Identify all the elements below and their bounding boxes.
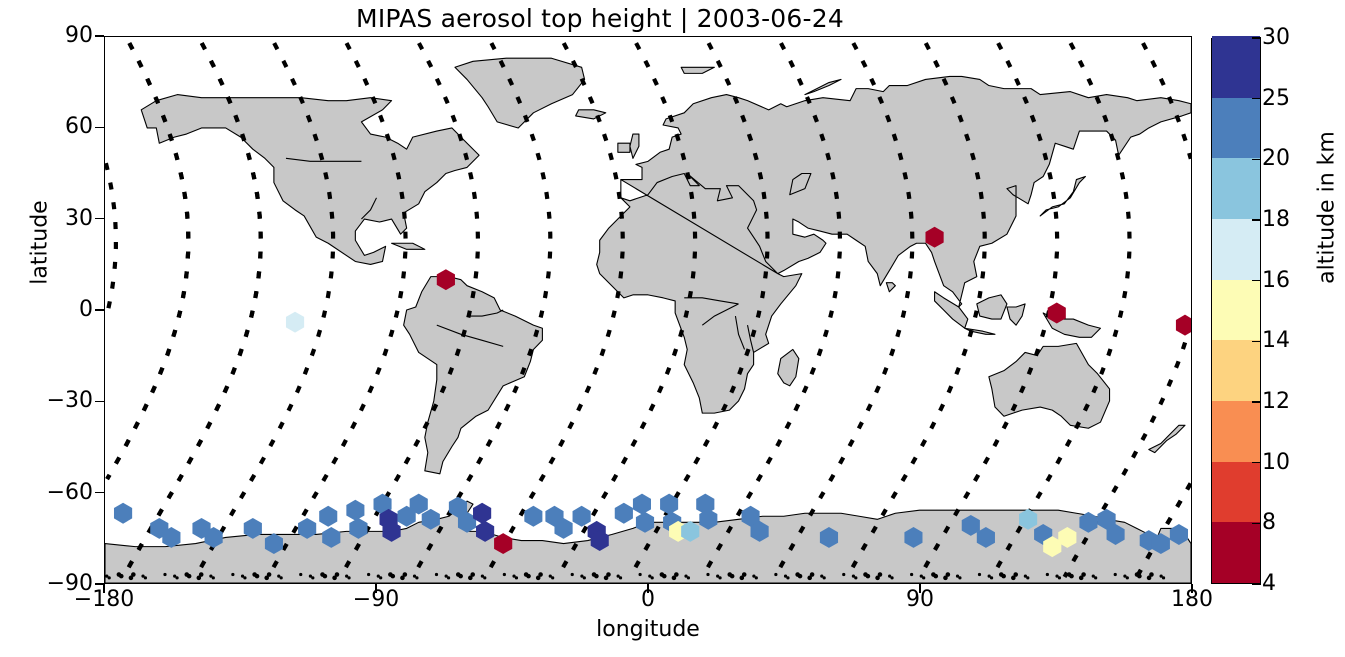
chart-title: MIPAS aerosol top height | 2003-06-24 (0, 4, 1200, 33)
colorbar-tick-label: 12 (1262, 391, 1290, 413)
landmass (455, 58, 585, 128)
orbit-track-dot (706, 573, 709, 576)
orbit-track-dot (163, 573, 166, 576)
orbit-track-dot (447, 576, 450, 579)
orbit-track-dot (662, 574, 667, 579)
colorbar-band (1212, 340, 1260, 401)
colorbar-tick-mark (1252, 98, 1261, 100)
orbit-track-dot (687, 576, 690, 579)
colorbar-tick-mark (1252, 341, 1261, 343)
orbit-track-dot (526, 574, 531, 579)
orbit-track-dot (990, 576, 993, 579)
orbit-track-dot (390, 574, 395, 579)
orbit-track-dot (483, 576, 486, 579)
y-tick-label: −60 (47, 482, 93, 504)
landmass (392, 243, 425, 249)
orbit-track-dot (774, 573, 777, 576)
orbit-track-dot (1126, 576, 1129, 579)
x-tick-mark (1191, 584, 1193, 593)
orbit-track-dot (470, 572, 475, 577)
orbit-track-dot (1094, 576, 1097, 579)
y-tick-mark (95, 309, 104, 311)
data-point (286, 312, 304, 333)
colorbar-tick-label: 4 (1262, 573, 1276, 595)
orbit-track-dot (651, 576, 654, 579)
x-tick-mark (375, 584, 377, 593)
map-axes (104, 36, 1192, 584)
colorbar-band (1212, 97, 1260, 158)
orbit-track-dot (1162, 576, 1165, 579)
landmass (1149, 425, 1185, 452)
orbit-track-dot (1058, 576, 1061, 579)
data-point (114, 503, 132, 524)
map-canvas (105, 37, 1191, 583)
colorbar-tick-label: 20 (1262, 148, 1290, 170)
orbit-track-dot (1137, 574, 1142, 579)
orbit-track-dot (854, 576, 857, 579)
orbit-track-dot (619, 576, 622, 579)
orbit-track-dot (1114, 573, 1117, 576)
colorbar-band (1212, 461, 1260, 522)
orbit-track-dot (458, 574, 463, 579)
data-point (346, 500, 364, 521)
y-tick-label: 30 (65, 208, 93, 230)
landmass (404, 277, 543, 474)
orbit-track-dot (878, 572, 883, 577)
y-tick-mark (95, 218, 104, 220)
orbit-track-dot (890, 576, 893, 579)
colorbar-tick-label: 30 (1262, 27, 1290, 49)
orbit-track-dot (243, 576, 246, 579)
orbit-track-dot (131, 572, 136, 577)
landmass (630, 134, 639, 158)
orbit-track-dot (379, 576, 382, 579)
colorbar-tick-mark (1252, 523, 1261, 525)
colorbar-tick-mark (1252, 280, 1261, 282)
y-tick-mark (95, 127, 104, 129)
orbit-track-dot (958, 576, 961, 579)
colorbar-band (1212, 522, 1260, 583)
orbit-track-dot (175, 576, 178, 579)
landmass (1040, 176, 1085, 215)
x-tick-mark (103, 584, 105, 593)
colorbar-tick-label: 8 (1262, 512, 1276, 534)
colorbar-tick-label: 16 (1262, 270, 1290, 292)
orbit-track-dot (730, 574, 735, 579)
orbit-track-dot (267, 572, 272, 577)
colorbar-tick-label: 25 (1262, 88, 1290, 110)
orbit-track-dot (910, 573, 913, 576)
orbit-track-dot (551, 576, 554, 579)
orbit-track-dot (842, 573, 845, 576)
orbit-track-dot (199, 572, 204, 577)
data-point (319, 506, 337, 527)
colorbar-band (1212, 158, 1260, 219)
orbit-track-dot (280, 576, 283, 579)
orbit-track-dot (583, 576, 586, 579)
y-tick-mark (95, 401, 104, 403)
x-tick-mark (647, 584, 649, 593)
orbit-track-dot (755, 576, 758, 579)
colorbar-tick-label: 14 (1262, 330, 1290, 352)
orbit-track-dot (946, 572, 951, 577)
orbit-track-dot (435, 573, 438, 576)
orbit-track-dot (978, 573, 981, 576)
x-tick-mark (919, 584, 921, 593)
orbit-track-dot (299, 573, 302, 576)
orbit-track-dot (810, 572, 815, 577)
colorbar-tick-mark (1252, 583, 1261, 585)
orbit-track-dot (718, 576, 721, 579)
landmass (597, 76, 1191, 413)
y-tick-mark (95, 492, 104, 494)
landmass (681, 67, 714, 73)
colorbar-band (1212, 36, 1260, 97)
orbit-track-dot (639, 573, 642, 576)
colorbar-tick-label: 18 (1262, 209, 1290, 231)
landmass (989, 343, 1110, 428)
orbit-track-dot (119, 574, 124, 579)
orbit-track-dot (571, 573, 574, 576)
orbit-track-dot (922, 576, 925, 579)
orbit-track-dot (1149, 572, 1154, 577)
x-axis-label: longitude (104, 617, 1192, 642)
figure-root: MIPAS aerosol top height | 2003-06-24 la… (0, 0, 1345, 657)
orbit-track-dot (503, 573, 506, 576)
landmass (1007, 304, 1025, 325)
y-tick-label: 0 (79, 299, 93, 321)
orbit-track-dot (403, 572, 408, 577)
landmass (977, 295, 1007, 319)
landmass (576, 110, 606, 119)
orbit-track-dot (367, 573, 370, 576)
orbit-track-dot (538, 572, 543, 577)
orbit-track-dot (1013, 572, 1018, 577)
y-tick-label: 90 (65, 25, 93, 47)
orbit-track-dot (347, 576, 350, 579)
orbit-track-dot (323, 574, 328, 579)
y-axis-label: latitude (28, 153, 53, 333)
orbit-track-dot (866, 574, 871, 579)
orbit-track-dot (231, 573, 234, 576)
colorbar-tick-mark (1252, 37, 1261, 39)
orbit-track-dot (335, 572, 340, 577)
colorbar (1211, 38, 1261, 584)
landmass (778, 349, 799, 385)
orbit-track-dot (823, 576, 826, 579)
y-tick-label: 60 (65, 116, 93, 138)
orbit-track-dot (742, 572, 747, 577)
colorbar-tick-mark (1252, 401, 1261, 403)
orbit-track-dot (515, 576, 518, 579)
colorbar-tick-mark (1252, 159, 1261, 161)
orbit-track-dot (786, 576, 789, 579)
data-point (524, 506, 542, 527)
colorbar-band (1212, 400, 1260, 461)
orbit-track-dot (255, 574, 260, 579)
colorbar-label: altitude in km (1315, 93, 1340, 323)
y-tick-mark (95, 35, 104, 37)
orbit-track-dot (311, 576, 314, 579)
orbit-track-dot (1069, 574, 1074, 579)
orbit-track-dot (606, 572, 611, 577)
orbit-track-dot (108, 576, 111, 579)
orbit-track-dot (1046, 573, 1049, 576)
orbit-track-dot (933, 574, 938, 579)
colorbar-tick-label: 10 (1262, 452, 1290, 474)
orbit-track-dot (798, 574, 803, 579)
orbit-track-dot (1026, 576, 1029, 579)
data-point (615, 503, 633, 524)
orbit-track-dot (1081, 572, 1086, 577)
orbit-track-dot (144, 576, 147, 579)
data-point (1176, 315, 1191, 336)
landmass (618, 143, 630, 152)
y-tick-label: −30 (47, 390, 93, 412)
colorbar-tick-mark (1252, 462, 1261, 464)
colorbar-tick-mark (1252, 219, 1261, 221)
orbit-track-dot (212, 576, 215, 579)
data-point (573, 506, 591, 527)
orbit-track-dot (594, 574, 599, 579)
colorbar-band (1212, 218, 1260, 279)
landmass (935, 292, 968, 328)
orbit-track-dot (674, 572, 679, 577)
orbit-track-dot (415, 576, 418, 579)
orbit-track-dot (187, 574, 192, 579)
data-point (633, 494, 651, 515)
landmass (886, 283, 895, 292)
orbit-track-dot (1001, 574, 1006, 579)
landmass (805, 79, 841, 94)
colorbar-band (1212, 279, 1260, 340)
